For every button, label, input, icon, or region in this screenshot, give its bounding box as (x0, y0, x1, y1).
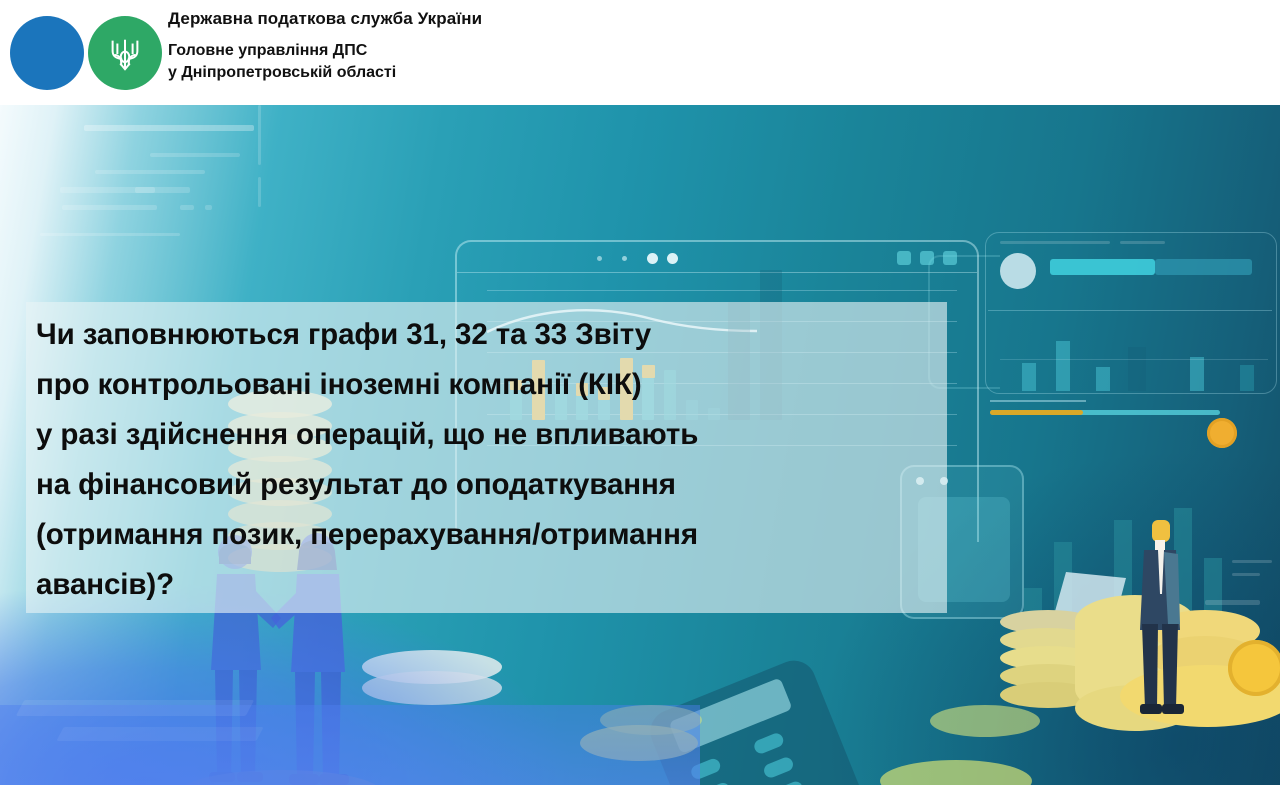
org-dept-line1: Головне управління ДПС (168, 40, 868, 62)
blue-circle-icon (10, 16, 84, 90)
question-line-2: про контрольовані іноземні компанії (КІК… (36, 360, 956, 410)
org-dept-line2: у Дніпропетровській області (168, 62, 868, 84)
organization-title-block: Державна податкова служба України Головн… (168, 8, 868, 84)
question-line-1: Чи заповнюються графи 31, 32 та 33 Звіту (36, 310, 956, 360)
progress-bar-fill (990, 410, 1083, 415)
floating-coin-3 (880, 760, 1032, 785)
dollar-coin-icon (1207, 418, 1237, 448)
banner-page: Державна податкова служба України Головн… (0, 0, 1280, 785)
mini-bar-chart (1000, 323, 1270, 391)
org-name-line1: Державна податкова служба України (168, 8, 868, 29)
question-text: Чи заповнюються графи 31, 32 та 33 Звіту… (36, 310, 956, 610)
floating-coin-6 (930, 705, 1040, 737)
site-header: Державна податкова служба України Головн… (0, 0, 1280, 105)
avatar (1000, 253, 1036, 289)
businessman-figure (1128, 520, 1192, 720)
organization-logo (6, 10, 156, 94)
question-line-4: на фінансовий результат до оподаткування (36, 460, 956, 510)
ukrainian-trident-icon (106, 34, 144, 74)
question-line-6: авансів)? (36, 560, 956, 610)
blue-gradient-overlay-bottom (0, 705, 700, 785)
dollar-coin-large-icon (1228, 640, 1280, 696)
progress-segment-filled (1050, 259, 1155, 275)
question-line-5: (отримання позик, перерахування/отриманн… (36, 510, 956, 560)
progress-segment-empty (1155, 259, 1252, 275)
question-line-3: у разі здійснення операцій, що не вплива… (36, 410, 956, 460)
